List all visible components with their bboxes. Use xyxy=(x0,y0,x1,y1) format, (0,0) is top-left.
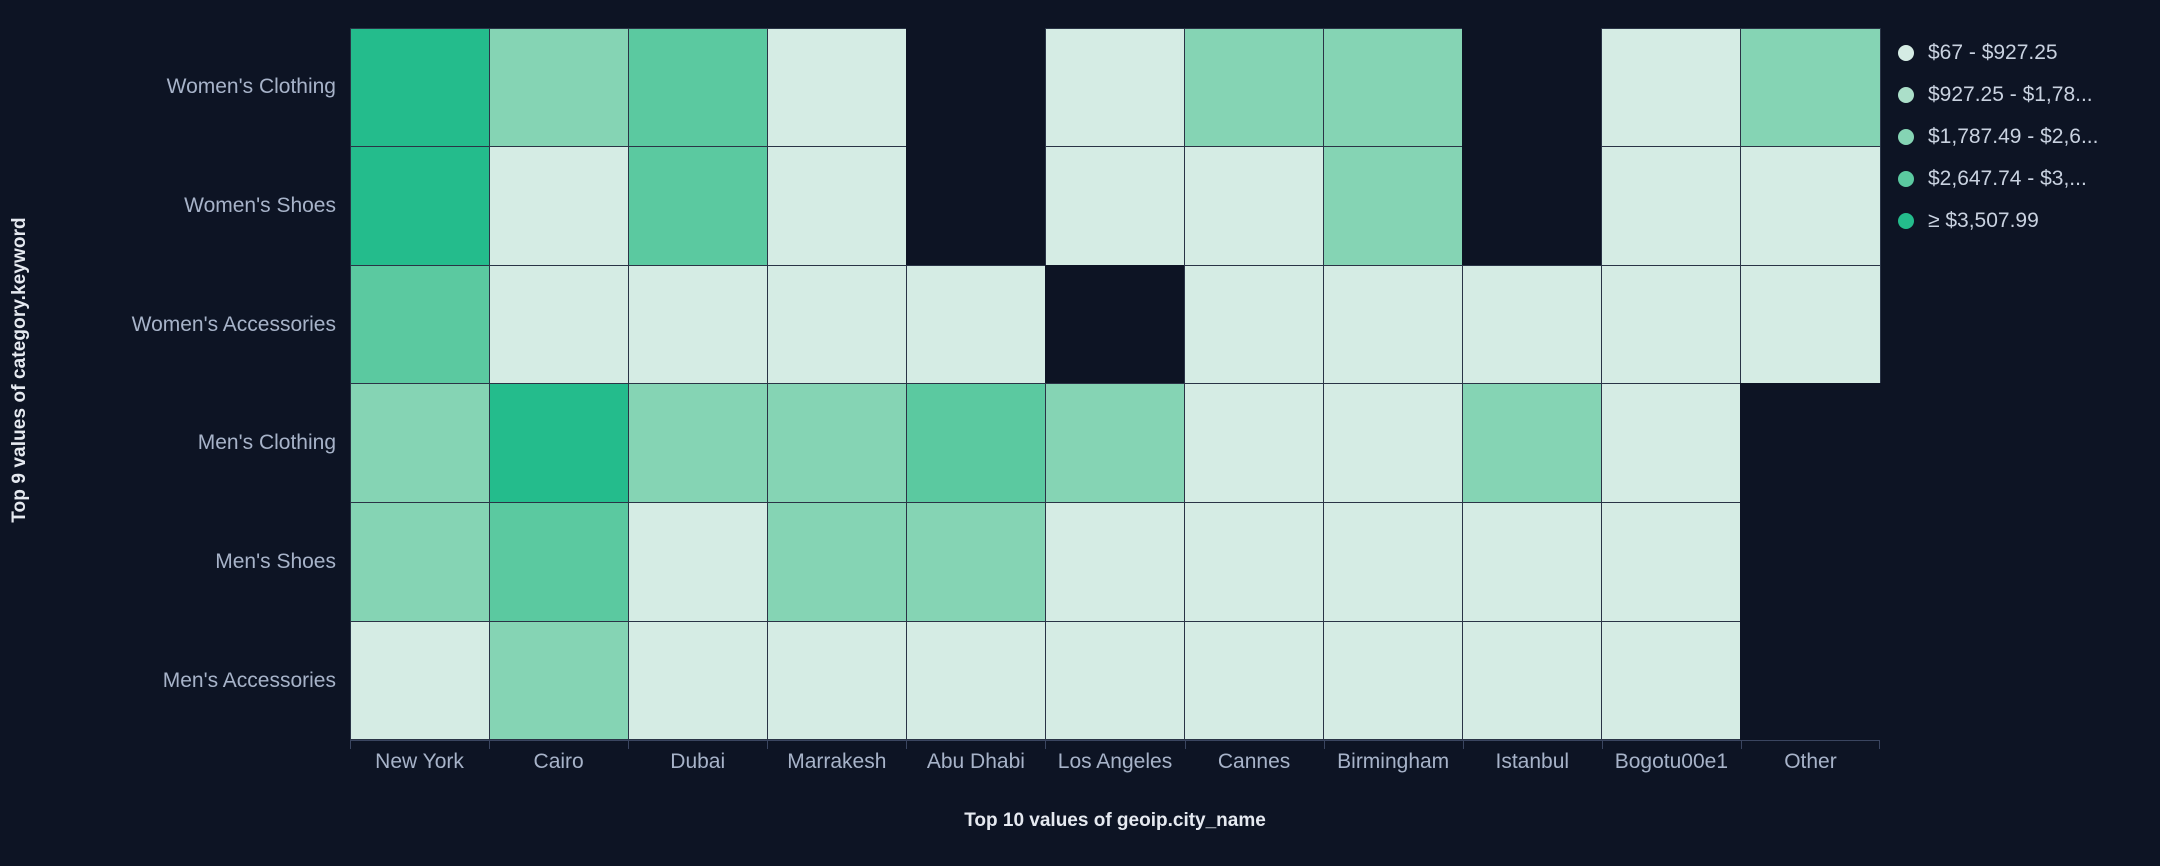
heatmap-cell[interactable] xyxy=(1045,146,1185,266)
heatmap-cell[interactable] xyxy=(1184,502,1324,622)
legend-swatch-icon xyxy=(1898,171,1914,187)
heatmap-cell[interactable] xyxy=(628,621,768,741)
heatmap-cell[interactable] xyxy=(906,621,1046,741)
heatmap-cell[interactable] xyxy=(489,502,629,622)
heatmap-cell[interactable] xyxy=(767,146,907,266)
y-axis-tick: Women's Shoes xyxy=(40,147,350,266)
heatmap-cell[interactable] xyxy=(628,502,768,622)
legend-swatch-icon xyxy=(1898,45,1914,61)
heatmap-cell[interactable] xyxy=(906,146,1046,266)
x-axis-tick: Dubai xyxy=(628,741,767,783)
heatmap-cell[interactable] xyxy=(1601,621,1741,741)
legend-label: $1,787.49 - $2,6... xyxy=(1928,125,2098,149)
heatmap-cell[interactable] xyxy=(1184,621,1324,741)
heatmap-cell[interactable] xyxy=(1601,28,1741,148)
heatmap-cell[interactable] xyxy=(628,265,768,385)
heatmap-cell[interactable] xyxy=(350,146,490,266)
legend-swatch-icon xyxy=(1898,213,1914,229)
x-axis-tick: New York xyxy=(350,741,489,783)
heatmap-cell[interactable] xyxy=(1740,28,1880,148)
legend-item[interactable]: $67 - $927.25 xyxy=(1898,32,2148,74)
heatmap-cell[interactable] xyxy=(1462,383,1602,503)
heatmap-cell[interactable] xyxy=(489,28,629,148)
y-axis-tick: Women's Clothing xyxy=(40,28,350,147)
heatmap-cell[interactable] xyxy=(767,621,907,741)
legend-label: $927.25 - $1,78... xyxy=(1928,83,2093,107)
heatmap-cell[interactable] xyxy=(1045,502,1185,622)
heatmap-cell[interactable] xyxy=(767,383,907,503)
x-axis-tick: Birmingham xyxy=(1324,741,1463,783)
heatmap-grid xyxy=(350,28,1880,740)
heatmap-cell[interactable] xyxy=(1323,621,1463,741)
heatmap-cell[interactable] xyxy=(1045,383,1185,503)
heatmap-cell[interactable] xyxy=(1740,146,1880,266)
heatmap-cell[interactable] xyxy=(1323,146,1463,266)
heatmap-cell[interactable] xyxy=(1462,621,1602,741)
heatmap-cell[interactable] xyxy=(1184,383,1324,503)
heatmap-cell[interactable] xyxy=(1323,383,1463,503)
legend-swatch-icon xyxy=(1898,87,1914,103)
heatmap-cell[interactable] xyxy=(767,28,907,148)
heatmap-cell[interactable] xyxy=(350,502,490,622)
legend-item[interactable]: $927.25 - $1,78... xyxy=(1898,74,2148,116)
heatmap-cell[interactable] xyxy=(1323,28,1463,148)
heatmap-cell[interactable] xyxy=(1601,502,1741,622)
heatmap-cell[interactable] xyxy=(906,265,1046,385)
heatmap-plot-area xyxy=(350,28,1880,740)
y-axis-tick-labels: Women's ClothingWomen's ShoesWomen's Acc… xyxy=(40,28,350,740)
x-axis-tick: Abu Dhabi xyxy=(906,741,1045,783)
heatmap-cell[interactable] xyxy=(628,383,768,503)
x-axis-tick: Los Angeles xyxy=(1045,741,1184,783)
x-axis-tick: Other xyxy=(1741,741,1880,783)
x-axis-tick: Cairo xyxy=(489,741,628,783)
heatmap-cell[interactable] xyxy=(489,265,629,385)
heatmap-cell[interactable] xyxy=(1462,28,1602,148)
heatmap-cell[interactable] xyxy=(1740,265,1880,385)
x-axis-tick: Marrakesh xyxy=(767,741,906,783)
x-axis-tick: Istanbul xyxy=(1463,741,1602,783)
heatmap-cell[interactable] xyxy=(1323,265,1463,385)
y-axis-tick: Men's Clothing xyxy=(40,384,350,503)
legend-item[interactable]: $2,647.74 - $3,... xyxy=(1898,158,2148,200)
heatmap-cell[interactable] xyxy=(489,621,629,741)
heatmap-cell[interactable] xyxy=(350,28,490,148)
heatmap-cell[interactable] xyxy=(1184,265,1324,385)
heatmap-cell[interactable] xyxy=(1740,383,1880,503)
legend-label: $67 - $927.25 xyxy=(1928,41,2058,65)
heatmap-cell[interactable] xyxy=(350,383,490,503)
y-axis-title: Top 9 values of category.keyword xyxy=(0,0,40,740)
heatmap-cell[interactable] xyxy=(350,621,490,741)
legend-item[interactable]: ≥ $3,507.99 xyxy=(1898,200,2148,242)
heatmap-cell[interactable] xyxy=(767,265,907,385)
heatmap-cell[interactable] xyxy=(906,28,1046,148)
heatmap-cell[interactable] xyxy=(1601,146,1741,266)
y-axis-tick: Men's Accessories xyxy=(40,621,350,740)
heatmap-cell[interactable] xyxy=(628,146,768,266)
heatmap-cell[interactable] xyxy=(350,265,490,385)
heatmap-cell[interactable] xyxy=(1462,502,1602,622)
x-axis-tick: Cannes xyxy=(1185,741,1324,783)
legend-label: ≥ $3,507.99 xyxy=(1928,209,2039,233)
heatmap-cell[interactable] xyxy=(1740,502,1880,622)
heatmap-cell[interactable] xyxy=(1462,146,1602,266)
heatmap-cell[interactable] xyxy=(489,383,629,503)
heatmap-cell[interactable] xyxy=(906,383,1046,503)
heatmap-chart: Top 9 values of category.keyword Women's… xyxy=(0,0,2160,866)
heatmap-cell[interactable] xyxy=(1740,621,1880,741)
heatmap-cell[interactable] xyxy=(628,28,768,148)
legend-label: $2,647.74 - $3,... xyxy=(1928,167,2087,191)
x-axis-title: Top 10 values of geoip.city_name xyxy=(350,810,1880,832)
heatmap-cell[interactable] xyxy=(1184,28,1324,148)
heatmap-cell[interactable] xyxy=(1323,502,1463,622)
legend-swatch-icon xyxy=(1898,129,1914,145)
y-axis-tick: Women's Accessories xyxy=(40,265,350,384)
legend-item[interactable]: $1,787.49 - $2,6... xyxy=(1898,116,2148,158)
heatmap-cell[interactable] xyxy=(1462,265,1602,385)
y-axis-title-text: Top 9 values of category.keyword xyxy=(9,217,31,523)
heatmap-cell[interactable] xyxy=(906,502,1046,622)
heatmap-cell[interactable] xyxy=(1601,265,1741,385)
heatmap-cell[interactable] xyxy=(1045,265,1185,385)
heatmap-cell[interactable] xyxy=(1045,621,1185,741)
heatmap-cell[interactable] xyxy=(489,146,629,266)
heatmap-cell[interactable] xyxy=(1184,146,1324,266)
heatmap-cell[interactable] xyxy=(767,502,907,622)
heatmap-cell[interactable] xyxy=(1045,28,1185,148)
x-axis-tick: Bogotu00e1 xyxy=(1602,741,1741,783)
heatmap-cell[interactable] xyxy=(1601,383,1741,503)
x-axis-tick-labels: New YorkCairoDubaiMarrakeshAbu DhabiLos … xyxy=(350,741,1880,783)
y-axis-tick: Men's Shoes xyxy=(40,503,350,622)
legend: $67 - $927.25$927.25 - $1,78...$1,787.49… xyxy=(1898,32,2148,242)
